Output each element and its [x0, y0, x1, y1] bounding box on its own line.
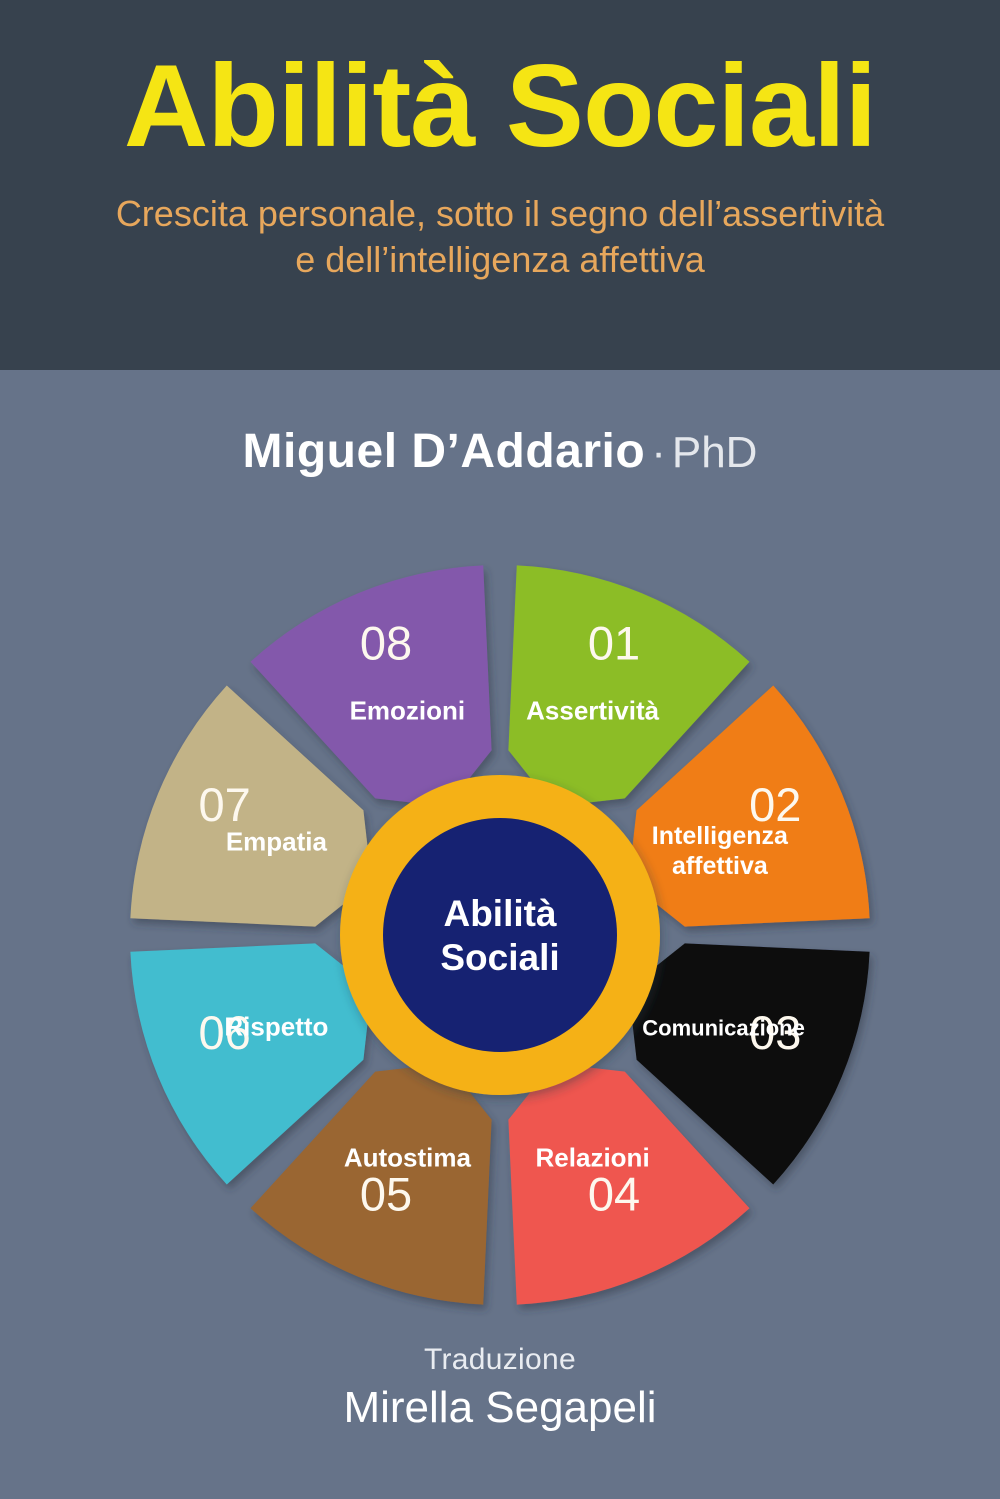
- hub-label-line-1: Abilità: [443, 893, 556, 934]
- segment-label-06: Rispetto: [224, 1012, 328, 1042]
- translator-name: Mirella Segapeli: [0, 1383, 1000, 1433]
- segment-number-07: 07: [199, 778, 251, 831]
- author-line: Miguel D’Addario·PhD: [0, 424, 1000, 479]
- wheel-hub: [340, 775, 660, 1095]
- segment-number-04: 04: [588, 1167, 640, 1220]
- hub-label-line-2: Sociali: [440, 937, 559, 978]
- segment-label-01: Assertività: [526, 695, 659, 725]
- subtitle-line-2: e dell’intelligenza affettiva: [40, 237, 960, 283]
- segment-label-04: Relazioni: [536, 1143, 650, 1173]
- segment-label-02: affettiva: [672, 852, 769, 880]
- translation-role-label: Traduzione: [0, 1343, 1000, 1377]
- segment-label-07: Empatia: [226, 826, 328, 856]
- author-separator: ·: [651, 428, 666, 477]
- book-subtitle: Crescita personale, sotto il segno dell’…: [40, 191, 960, 283]
- author-degree: PhD: [672, 428, 758, 477]
- book-cover: Abilità Sociali Crescita personale, sott…: [0, 0, 1000, 1499]
- segment-label-03: Comunicazione: [642, 1016, 805, 1041]
- segment-number-05: 05: [360, 1167, 412, 1220]
- cover-header: Abilità Sociali Crescita personale, sott…: [0, 0, 1000, 370]
- skills-wheel-diagram: Abilità Sociali 01Assertività02Intellige…: [115, 550, 885, 1320]
- segment-number-01: 01: [588, 617, 640, 670]
- subtitle-line-1: Crescita personale, sotto il segno dell’…: [116, 193, 884, 234]
- segment-number-08: 08: [360, 617, 412, 670]
- hub-core: [383, 818, 617, 1052]
- wheel-svg: Abilità Sociali 01Assertività02Intellige…: [115, 550, 885, 1320]
- book-title: Abilità Sociali: [124, 46, 876, 165]
- segment-label-02: Intelligenza: [652, 822, 789, 850]
- author-name: Miguel D’Addario: [243, 425, 646, 478]
- segment-label-05: Autostima: [344, 1143, 472, 1173]
- translation-credits: Traduzione Mirella Segapeli: [0, 1343, 1000, 1433]
- segment-label-08: Emozioni: [350, 695, 466, 725]
